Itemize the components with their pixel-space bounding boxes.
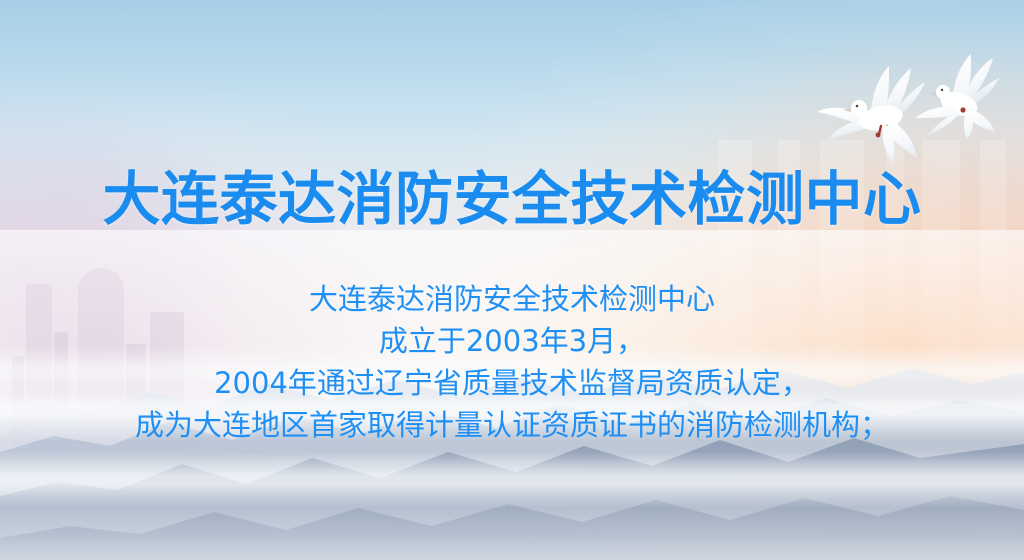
description-line-4: 成为大连地区首家取得计量认证资质证书的消防检测机构； — [0, 404, 1024, 446]
description-line-1: 大连泰达消防安全技术检测中心 — [0, 278, 1024, 320]
doves-illustration — [815, 48, 1024, 168]
description-line-3: 2004年通过辽宁省质量技术监督局资质认定， — [0, 362, 1024, 404]
dove-flying-left — [817, 66, 925, 164]
description-line-2: 成立于2003年3月， — [0, 320, 1024, 362]
page-title: 大连泰达消防安全技术检测中心 — [0, 168, 1024, 231]
description-block: 大连泰达消防安全技术检测中心 成立于2003年3月， 2004年通过辽宁省质量技… — [0, 278, 1024, 446]
dove-flying-right — [915, 54, 999, 140]
presentation-slide: 大连泰达消防安全技术检测中心 大连泰达消防安全技术检测中心 成立于2003年3月… — [0, 0, 1024, 560]
